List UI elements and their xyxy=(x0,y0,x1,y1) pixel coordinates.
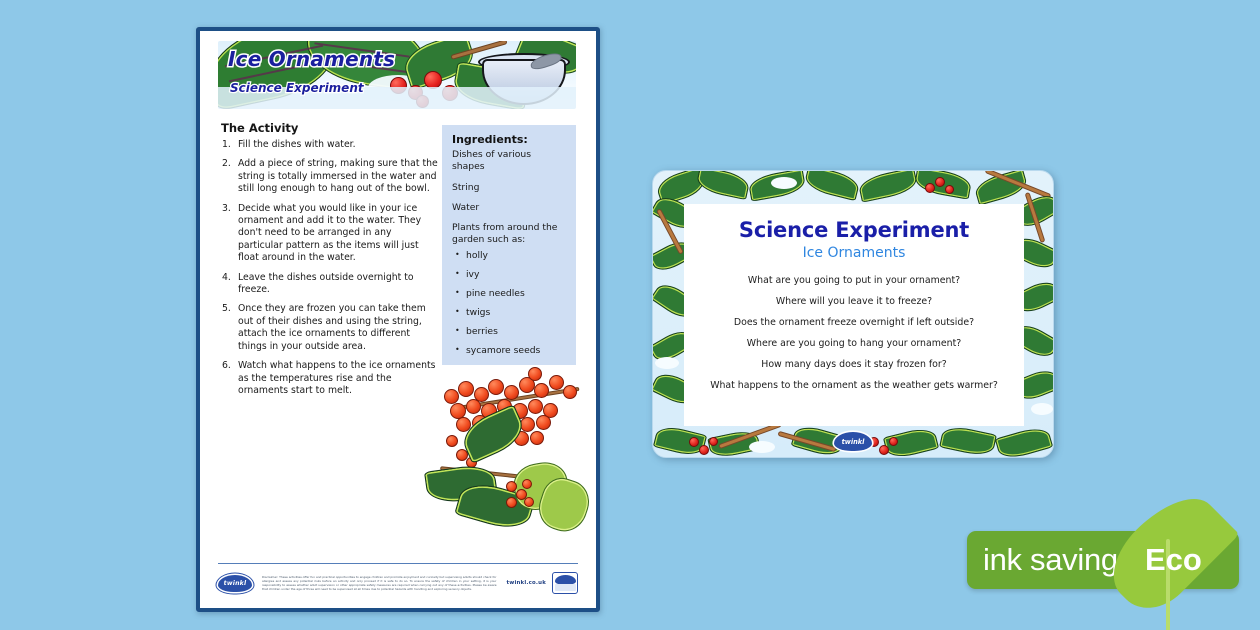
berry-icon xyxy=(534,383,549,398)
snow-decoration-icon xyxy=(655,357,679,369)
berry-icon xyxy=(444,389,459,404)
plant-item: sycamore seeds xyxy=(452,345,566,356)
activity-step: Add a piece of string, making sure that … xyxy=(221,158,439,195)
berry-icon xyxy=(549,375,564,390)
ingredients-plants-intro: Plants from around the garden such as: xyxy=(452,222,566,246)
holly-leaf-icon xyxy=(695,171,751,200)
berry-icon xyxy=(458,381,474,397)
card-subtitle: Ice Ornaments xyxy=(684,245,1024,261)
berry-icon xyxy=(506,481,517,492)
berry-icon xyxy=(536,415,551,430)
card-question: Where are you going to hang your ornamen… xyxy=(684,338,1024,350)
berry-icon xyxy=(488,379,504,395)
snow-decoration-icon xyxy=(771,177,797,189)
card-twinkl-logo-icon[interactable]: twinkl xyxy=(834,432,872,451)
ingredients-plants-list: holly ivy pine needles twigs berries syc… xyxy=(452,250,566,356)
card-question: What are you going to put in your orname… xyxy=(684,275,1024,287)
science-experiment-card[interactable]: Science Experiment Ice Ornaments What ar… xyxy=(652,170,1054,458)
eco-label: Eco xyxy=(1145,542,1202,578)
card-question: How many days does it stay frozen for? xyxy=(684,359,1024,371)
berry-icon xyxy=(506,497,517,508)
twinkl-url-label[interactable]: twinkl.co.uk xyxy=(507,580,547,586)
snow-decoration-icon xyxy=(1031,403,1053,415)
holly-berries-illustration xyxy=(422,371,594,551)
ingredient-item: Water xyxy=(452,202,566,214)
card-content-area: Science Experiment Ice Ornaments What ar… xyxy=(684,204,1024,426)
card-question: Does the ornament freeze overnight if le… xyxy=(684,317,1024,329)
snow-decoration-icon xyxy=(749,441,775,453)
seal-bar-icon xyxy=(555,584,576,591)
disclaimer-text: Disclaimer: These activities offer fun a… xyxy=(258,575,501,591)
plant-item: twigs xyxy=(452,307,566,318)
card-question: Where will you leave it to freeze? xyxy=(684,296,1024,308)
card-twinkl-logo-text: twinkl xyxy=(842,438,865,446)
berry-icon xyxy=(528,399,543,414)
twinkl-seal-icon xyxy=(552,572,578,594)
berry-icon xyxy=(689,437,699,447)
holly-leaf-icon xyxy=(857,171,919,203)
ingredient-item: Dishes of various shapes xyxy=(452,149,566,173)
plant-item: berries xyxy=(452,326,566,337)
berry-icon xyxy=(466,399,481,414)
berry-icon xyxy=(522,479,532,489)
footer-divider xyxy=(218,563,578,564)
plant-item: ivy xyxy=(452,269,566,280)
berry-icon xyxy=(699,445,709,455)
berry-icon xyxy=(524,497,534,507)
activity-step: Once they are frozen you can take them o… xyxy=(221,303,439,353)
activity-heading: The Activity xyxy=(221,121,439,135)
berry-icon xyxy=(925,183,935,193)
plant-item: holly xyxy=(452,250,566,261)
holly-leaf-icon xyxy=(939,424,997,457)
berry-icon xyxy=(889,437,898,446)
document-footer: twinkl Disclaimer: These activities offe… xyxy=(218,566,578,600)
activity-section: The Activity Fill the dishes with water.… xyxy=(221,121,439,404)
activity-step: Leave the dishes outside overnight to fr… xyxy=(221,272,439,297)
printable-document[interactable]: Ice Ornaments Science Experiment The Act… xyxy=(196,27,600,612)
document-title: Ice Ornaments xyxy=(228,47,395,71)
twinkl-logo-text: twinkl xyxy=(224,580,247,587)
plant-item: pine needles xyxy=(452,288,566,299)
card-question: What happens to the ornament as the weat… xyxy=(684,380,1024,392)
document-subtitle: Science Experiment xyxy=(230,81,364,95)
activity-steps-list: Fill the dishes with water. Add a piece … xyxy=(221,139,439,397)
document-header-banner: Ice Ornaments Science Experiment xyxy=(218,41,576,109)
berry-icon xyxy=(709,437,718,446)
ink-saving-label: ink saving xyxy=(983,542,1118,578)
ink-saving-eco-badge: ink saving Eco xyxy=(967,531,1239,589)
berry-icon xyxy=(446,435,458,447)
berry-icon xyxy=(504,385,519,400)
card-questions-list: What are you going to put in your orname… xyxy=(684,275,1024,392)
berry-icon xyxy=(530,431,544,445)
ingredients-panel: Ingredients: Dishes of various shapes St… xyxy=(442,125,576,365)
screenshot-stage: Ice Ornaments Science Experiment The Act… xyxy=(0,0,1260,630)
activity-step: Fill the dishes with water. xyxy=(221,139,439,151)
card-title: Science Experiment xyxy=(684,218,1024,242)
berry-icon xyxy=(879,445,889,455)
berry-icon xyxy=(945,185,954,194)
twinkl-logo-icon[interactable]: twinkl xyxy=(218,575,252,592)
activity-step: Watch what happens to the ice ornaments … xyxy=(221,360,439,397)
berry-icon xyxy=(935,177,945,187)
berry-icon xyxy=(528,367,542,381)
berry-icon xyxy=(520,417,535,432)
holly-leaf-icon xyxy=(803,171,861,201)
activity-step: Decide what you would like in your ice o… xyxy=(221,203,439,265)
holly-leaf-icon xyxy=(995,424,1053,457)
berry-icon xyxy=(563,385,577,399)
ingredients-heading: Ingredients: xyxy=(452,133,566,146)
ingredient-item: String xyxy=(452,182,566,194)
